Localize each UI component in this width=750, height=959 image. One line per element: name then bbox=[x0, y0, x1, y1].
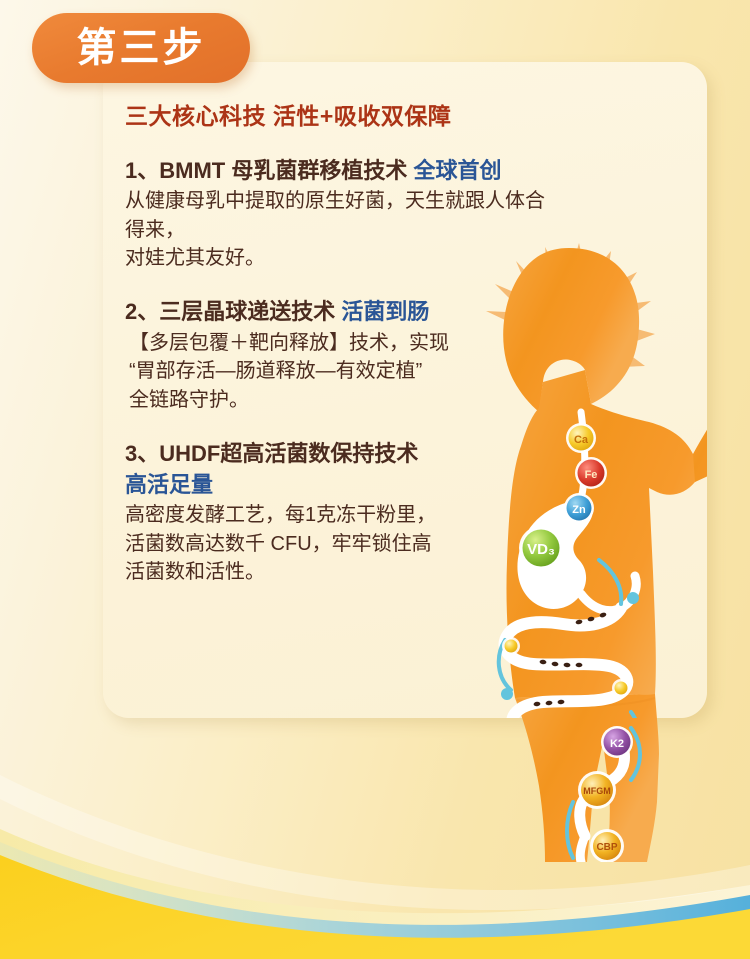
tech-item-2: 2、三层晶球递送技术 活菌到肠 【多层包覆＋靶向释放】技术，实现 “胃部存活—肠… bbox=[125, 298, 545, 414]
esophagus bbox=[581, 412, 585, 500]
svg-text:MFGM: MFGM bbox=[583, 786, 611, 796]
intestine-lower bbox=[580, 732, 625, 836]
nutrient-bubble-zn: Zn bbox=[564, 493, 594, 523]
tech-item-3: 3、UHDF超高活菌数保持技术 高活足量 高密度发酵工艺，每1克冻干粉里， 活菌… bbox=[125, 440, 545, 586]
tech-item-3-desc: 高密度发酵工艺，每1克冻干粉里， 活菌数高达数千 CFU，牢牢锁住高 活菌数和活… bbox=[125, 501, 545, 586]
tech-item-1-accent: 全球首创 bbox=[413, 158, 501, 183]
nutrient-bubble-k2: K2 bbox=[601, 726, 633, 758]
wave-sheen bbox=[0, 775, 750, 910]
wave-yellow bbox=[0, 855, 750, 959]
wave-blue-stripe bbox=[0, 842, 750, 951]
step-badge-label: 第三步 bbox=[77, 28, 206, 68]
probiotic-dots bbox=[533, 612, 607, 707]
tech-item-3-number: 3、 bbox=[125, 441, 159, 466]
section-headline: 三大核心科技 活性+吸收双保障 bbox=[125, 103, 545, 131]
shorts-and-legs bbox=[515, 694, 659, 718]
intestine-loop-1 bbox=[505, 608, 628, 718]
tech-item-1: 1、BMMT 母乳菌群移植技术 全球首创 从健康母乳中提取的原生好菌，天生就跟人… bbox=[125, 157, 545, 273]
tech-item-2-title: 2、三层晶球递送技术 活菌到肠 bbox=[125, 298, 545, 327]
svg-text:K2: K2 bbox=[610, 738, 624, 750]
shorts-hem bbox=[517, 698, 655, 706]
tech-item-2-desc: 【多层包覆＋靶向释放】技术，实现 “胃部存活—肠道释放—有效定植” 全链路守护。 bbox=[125, 329, 545, 414]
intestine-coil bbox=[581, 576, 636, 611]
tech-item-1-desc: 从健康母乳中提取的原生好菌，天生就跟人体合得来， 对娃尤其友好。 bbox=[125, 187, 545, 272]
svg-text:Zn: Zn bbox=[572, 504, 586, 516]
nutrient-bubble-cbp: CBP bbox=[590, 829, 624, 862]
tech-item-3-name: UHDF超高活菌数保持技术 bbox=[159, 441, 418, 466]
step-badge[interactable]: 第三步 bbox=[32, 13, 250, 83]
tech-item-2-number: 2、 bbox=[125, 299, 159, 324]
tech-item-1-title: 1、BMMT 母乳菌群移植技术 全球首创 bbox=[125, 157, 545, 186]
legs-lower bbox=[515, 694, 659, 862]
nutrient-bubble-fe: Fe bbox=[575, 457, 607, 489]
intestine-lower-tail bbox=[580, 836, 585, 862]
nutrient-bubble-gold-right bbox=[612, 679, 630, 697]
tech-item-2-name: 三层晶球递送技术 bbox=[159, 299, 335, 324]
tech-item-2-accent: 活菌到肠 bbox=[341, 299, 429, 324]
raised-arm bbox=[693, 365, 707, 482]
nutrient-bubble-ca: Ca bbox=[566, 423, 596, 453]
absorption-flow-arcs-lower bbox=[567, 728, 640, 858]
promo-page: Ca Fe Zn VD₃ bbox=[0, 0, 750, 959]
bottom-wave-decoration bbox=[0, 679, 750, 959]
nutrient-bubble-mfgm: MFGM bbox=[578, 771, 616, 809]
card-text-content: 三大核心科技 活性+吸收双保障 1、BMMT 母乳菌群移植技术 全球首创 从健康… bbox=[103, 62, 545, 586]
svg-text:Ca: Ca bbox=[574, 434, 589, 446]
nutrient-bubble-gold-left bbox=[502, 637, 520, 655]
tech-item-3-accent: 高活足量 bbox=[125, 471, 545, 500]
tech-item-3-title: 3、UHDF超高活菌数保持技术 bbox=[125, 440, 545, 469]
tech-item-1-name: BMMT 母乳菌群移植技术 bbox=[159, 158, 407, 183]
content-card: Ca Fe Zn VD₃ bbox=[103, 62, 707, 718]
tech-item-1-number: 1、 bbox=[125, 158, 159, 183]
svg-text:CBP: CBP bbox=[596, 842, 617, 853]
wave-pale bbox=[0, 829, 750, 959]
absorption-flow-dots bbox=[501, 592, 639, 718]
svg-text:Fe: Fe bbox=[585, 469, 598, 481]
